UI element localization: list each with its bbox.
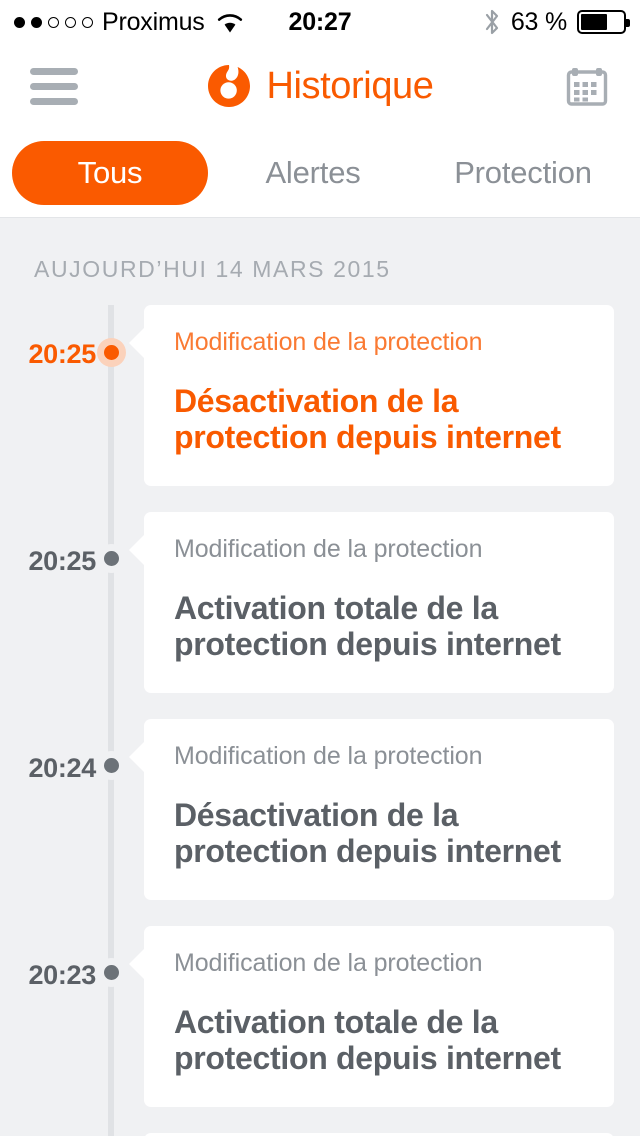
event-time: 20:25 <box>0 546 96 577</box>
status-bar-right: 63 % <box>483 8 626 37</box>
event-title: Désactivation de la protection depuis in… <box>174 383 584 456</box>
event-title: Désactivation de la protection depuis in… <box>174 797 584 870</box>
event-subtitle: Modification de la protection <box>174 741 584 771</box>
status-bar-left: Proximus <box>14 8 244 37</box>
event-dot <box>96 544 126 574</box>
event-dot <box>96 337 126 367</box>
timeline-event[interactable]: 20:25 Modification de la protection Acti… <box>0 512 640 693</box>
status-bar: Proximus 20:27 63 % <box>0 0 640 44</box>
history-content[interactable]: AUJOURD’HUI 14 MARS 2015 20:25 Modificat… <box>0 218 640 1136</box>
day-section-header: AUJOURD’HUI 14 MARS 2015 <box>0 218 640 305</box>
event-time: 20:23 <box>0 960 96 991</box>
hamburger-menu-icon[interactable] <box>30 68 78 105</box>
tab-protection[interactable]: Protection <box>418 141 628 205</box>
event-title: Activation totale de la protection depui… <box>174 1004 584 1077</box>
carrier-label: Proximus <box>102 8 205 37</box>
event-time: 20:25 <box>0 339 96 370</box>
filter-tab-bar: Tous Alertes Protection <box>0 128 640 218</box>
timeline-event[interactable]: 20:23 Modification de la protection Acti… <box>0 926 640 1107</box>
calendar-icon[interactable] <box>564 63 610 109</box>
nav-title-group: Historique <box>0 63 640 109</box>
bluetooth-icon <box>483 8 501 36</box>
brand-logo-icon <box>206 63 252 109</box>
event-dot <box>96 751 126 781</box>
navigation-bar: Historique <box>0 44 640 128</box>
event-title: Activation totale de la protection depui… <box>174 590 584 663</box>
timeline-event[interactable]: 20:25 Modification de la protection Désa… <box>0 305 640 486</box>
wifi-icon <box>216 11 244 33</box>
tab-tous[interactable]: Tous <box>12 141 208 205</box>
timeline-event[interactable]: 20:24 Modification de la protection Désa… <box>0 719 640 900</box>
event-timeline: 20:25 Modification de la protection Désa… <box>0 305 640 1136</box>
signal-strength-icon <box>14 17 93 28</box>
battery-percent-label: 63 % <box>511 8 567 37</box>
event-card[interactable]: Modification de la protection Activation… <box>144 926 614 1107</box>
event-card[interactable]: Modification de la protection Activation… <box>144 512 614 693</box>
app-screen: Proximus 20:27 63 % Histori <box>0 0 640 1136</box>
event-subtitle: Modification de la protection <box>174 948 584 978</box>
battery-icon <box>577 10 626 34</box>
event-card[interactable]: Modification de la protection Désactivat… <box>144 719 614 900</box>
tab-alertes[interactable]: Alertes <box>208 141 418 205</box>
page-title: Historique <box>266 65 433 108</box>
event-subtitle: Modification de la protection <box>174 327 584 357</box>
event-dot <box>96 958 126 988</box>
event-subtitle: Modification de la protection <box>174 534 584 564</box>
event-card[interactable]: Modification de la protection Désactivat… <box>144 305 614 486</box>
event-time: 20:24 <box>0 753 96 784</box>
